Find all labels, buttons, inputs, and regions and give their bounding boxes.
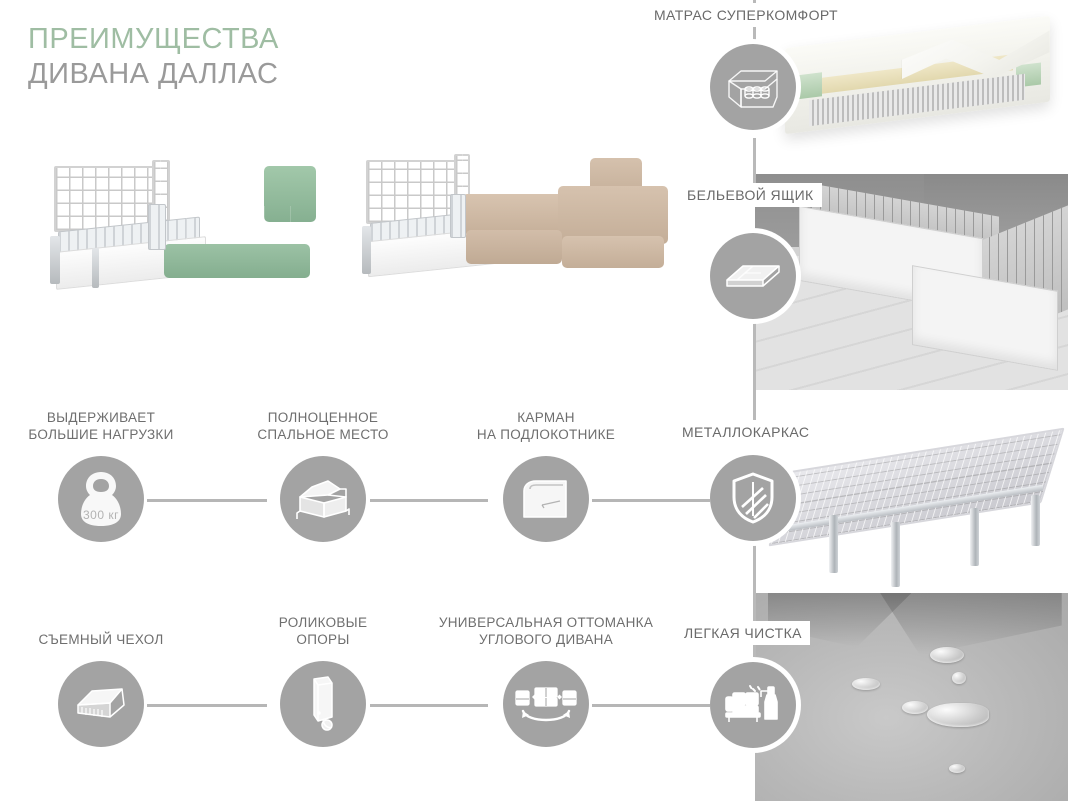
sofa-backrest-left xyxy=(462,138,524,198)
row-connector xyxy=(370,704,488,707)
feature-load-capacity[interactable]: ВЫДЕРЖИВАЕТ БОЛЬШИЕ НАГРУЗКИ 300 кг xyxy=(58,456,144,542)
side-mechanism xyxy=(450,194,466,238)
sofa-base xyxy=(164,244,310,278)
water-droplet xyxy=(902,701,928,714)
label-line-2: НА ПОДЛОКОТНИКЕ xyxy=(477,427,615,442)
frame-leg xyxy=(891,522,900,587)
row-connector xyxy=(147,499,267,502)
label-line-2: УГЛОВОГО ДИВАНА xyxy=(479,632,613,647)
frame-strut xyxy=(362,226,371,274)
label-line-1: РОЛИКОВЫЕ xyxy=(279,615,368,630)
water-droplet xyxy=(952,672,966,684)
sofa-seat xyxy=(462,194,566,234)
feature-sleeping-place-label: ПОЛНОЦЕННОЕ СПАЛЬНОЕ МЕСТО xyxy=(257,410,388,444)
water-droplet xyxy=(949,764,965,773)
product-image-sofa-green xyxy=(32,132,362,312)
cushion-cover-icon xyxy=(58,661,144,747)
infographic-canvas: ПРЕИМУЩЕСТВА ДИВАНА ДАЛЛАС xyxy=(0,0,1068,801)
label-line-2: СПАЛЬНОЕ МЕСТО xyxy=(257,427,388,442)
frame-deck xyxy=(769,427,1066,546)
sofa-backrest xyxy=(160,150,270,212)
label-line-1: КАРМАН xyxy=(517,410,575,425)
kettlebell-icon: 300 кг xyxy=(58,456,144,542)
feature-easy-clean-label: ЛЕГКАЯ ЧИСТКА xyxy=(678,621,810,645)
label-line-1: УНИВЕРСАЛЬНАЯ ОТТОМАНКА xyxy=(439,615,653,630)
feature-universal-ottoman[interactable]: УНИВЕРСАЛЬНАЯ ОТТОМАНКА УГЛОВОГО ДИВАНА xyxy=(503,661,589,747)
title-line-1: ПРЕИМУЩЕСТВА xyxy=(28,22,279,57)
feature-armrest-pocket[interactable]: КАРМАН НА ПОДЛОКОТНИКЕ xyxy=(503,456,589,542)
feature-load-capacity-label: ВЫДЕРЖИВАЕТ БОЛЬШИЕ НАГРУЗКИ xyxy=(28,410,173,444)
side-mechanism xyxy=(148,204,166,250)
metal-frame-photo xyxy=(762,420,1068,590)
feature-roller-supports-label: РОЛИКОВЫЕ ОПОРЫ xyxy=(279,615,368,649)
frame-leg xyxy=(970,508,979,566)
label-line-1: ПОЛНОЦЕННОЕ xyxy=(268,410,378,425)
armrest-pocket-icon xyxy=(503,456,589,542)
feature-linen-box-label: БЕЛЬЕВОЙ ЯЩИК xyxy=(681,183,822,207)
reversible-sofa-icon xyxy=(503,661,589,747)
sofa-base xyxy=(466,230,562,264)
fabric-seam xyxy=(880,593,1062,655)
bed-icon xyxy=(280,456,366,542)
mattress-foam-left xyxy=(794,72,822,99)
product-image-sofa-beige xyxy=(350,124,710,314)
shield-icon xyxy=(710,455,796,541)
water-droplet xyxy=(930,647,964,663)
vertical-connector xyxy=(753,316,756,422)
frame-leg xyxy=(1031,495,1040,546)
feature-universal-ottoman-label: УНИВЕРСАЛЬНАЯ ОТТОМАНКА УГЛОВОГО ДИВАНА xyxy=(439,615,653,649)
row-connector xyxy=(592,499,710,502)
frame-strut xyxy=(92,248,99,288)
feature-removable-cover[interactable]: СЪЕМНЫЙ ЧЕХОЛ xyxy=(58,661,144,747)
row-connector xyxy=(592,704,710,707)
title-line-2: ДИВАНА ДАЛЛАС xyxy=(28,57,279,92)
mattress-spring-icon xyxy=(710,44,796,130)
label-line-2: ОПОРЫ xyxy=(296,632,349,647)
caster-leg-icon xyxy=(280,661,366,747)
label-line-2: БОЛЬШИЕ НАГРУЗКИ xyxy=(28,427,173,442)
frame-strut xyxy=(50,236,60,284)
sofa-spray-icon xyxy=(710,662,796,748)
label-line-1: СЪЕМНЫЙ ЧЕХОЛ xyxy=(38,632,163,647)
feature-metal-frame-label: МЕТАЛЛОКАРКАС xyxy=(676,420,817,444)
water-droplet-large xyxy=(927,703,989,727)
feature-armrest-pocket-label: КАРМАН НА ПОДЛОКОТНИКЕ xyxy=(477,410,615,444)
row-connector xyxy=(370,499,488,502)
feature-roller-supports[interactable]: РОЛИКОВЫЕ ОПОРЫ xyxy=(280,661,366,747)
feature-removable-cover-label: СЪЕМНЫЙ ЧЕХОЛ xyxy=(38,632,163,649)
ottoman-base xyxy=(562,236,664,268)
row-connector xyxy=(147,704,267,707)
water-droplet xyxy=(852,678,880,690)
label-line-1: ВЫДЕРЖИВАЕТ xyxy=(47,410,155,425)
feature-mattress-label: МАТРАС СУПЕРКОМФОРТ xyxy=(648,3,846,27)
frame-leg xyxy=(829,515,838,573)
page-title: ПРЕИМУЩЕСТВА ДИВАНА ДАЛЛАС xyxy=(28,22,279,93)
feature-sleeping-place[interactable]: ПОЛНОЦЕННОЕ СПАЛЬНОЕ МЕСТО xyxy=(280,456,366,542)
storage-box-icon xyxy=(710,233,796,319)
